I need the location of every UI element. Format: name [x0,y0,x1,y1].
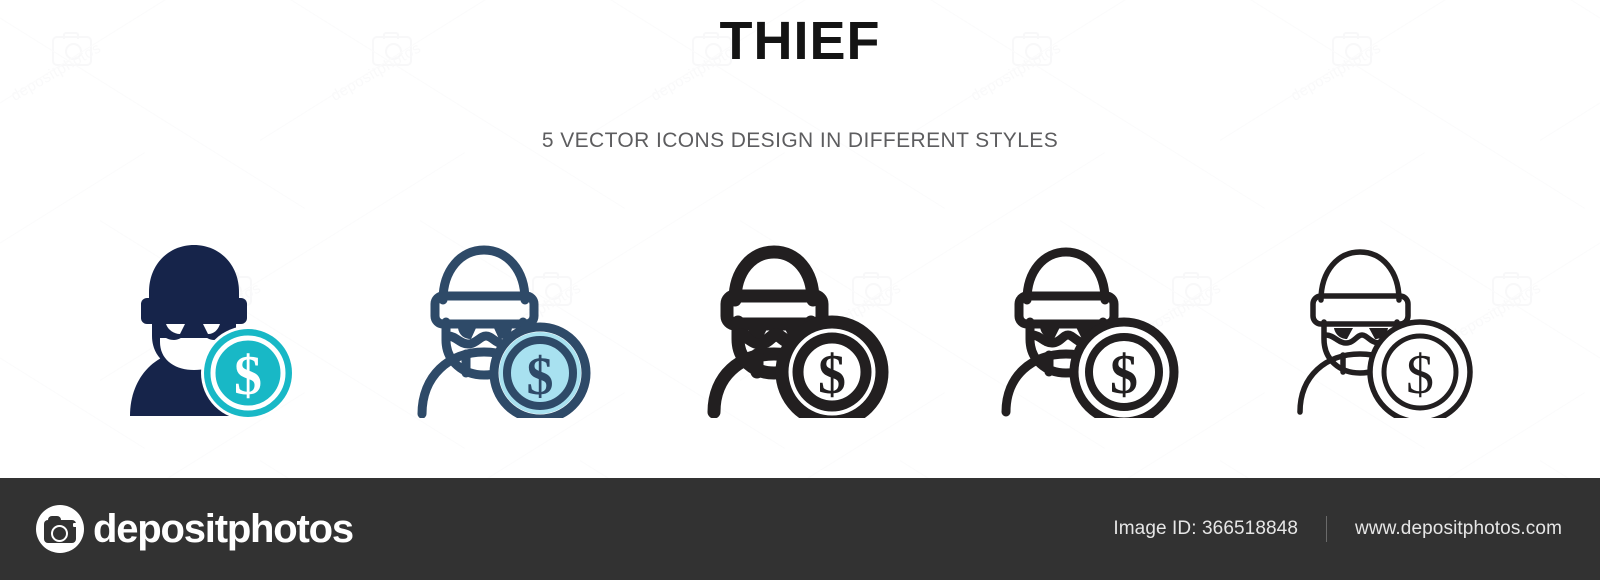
svg-text:$: $ [818,344,846,406]
icon-slot-4[interactable]: $ [970,218,1190,418]
svg-text:$: $ [1406,344,1434,406]
svg-text:$: $ [1110,344,1138,406]
thief-icon-bold-outline[interactable]: $ [680,218,900,418]
svg-text:$: $ [527,346,554,406]
dollar-coin-two-tone: $ [494,327,586,418]
dollar-coin-thin: $ [1370,322,1470,418]
icon-slot-5[interactable]: $ [1262,218,1482,418]
meta-divider [1326,516,1327,542]
camera-circle-icon [36,505,84,553]
icon-row: $ [0,218,1600,418]
footer-bar: depositphotos Image ID: 366518848 www.de… [0,478,1600,580]
dollar-coin-medium: $ [1074,322,1174,418]
dollar-coin-bold: $ [782,322,882,418]
thief-icon-thin-outline[interactable]: $ [1262,218,1482,418]
poster-canvas: depositphotosdepositphotosdepositphotosd… [0,0,1600,580]
page-title: THIEF [0,14,1600,68]
brand-wordmark: depositphotos [93,509,353,549]
icon-slot-3[interactable]: $ [680,218,900,418]
depositphotos-logo[interactable]: depositphotos [36,505,353,553]
dollar-coin-filled: $ [201,326,295,418]
thief-icon-medium-outline[interactable]: $ [970,218,1190,418]
image-id-label: Image ID: 366518848 [1113,518,1298,540]
thief-icon-filled[interactable]: $ [100,218,320,418]
thief-icon-two-tone[interactable]: $ [390,218,610,418]
website-label: www.depositphotos.com [1355,518,1562,540]
icon-slot-2[interactable]: $ [390,218,610,418]
footer-meta: Image ID: 366518848 www.depositphotos.co… [1113,478,1600,580]
page-subtitle: 5 VECTOR ICONS DESIGN IN DIFFERENT STYLE… [0,130,1600,151]
svg-text:$: $ [234,345,262,407]
icon-slot-1[interactable]: $ [100,218,320,418]
